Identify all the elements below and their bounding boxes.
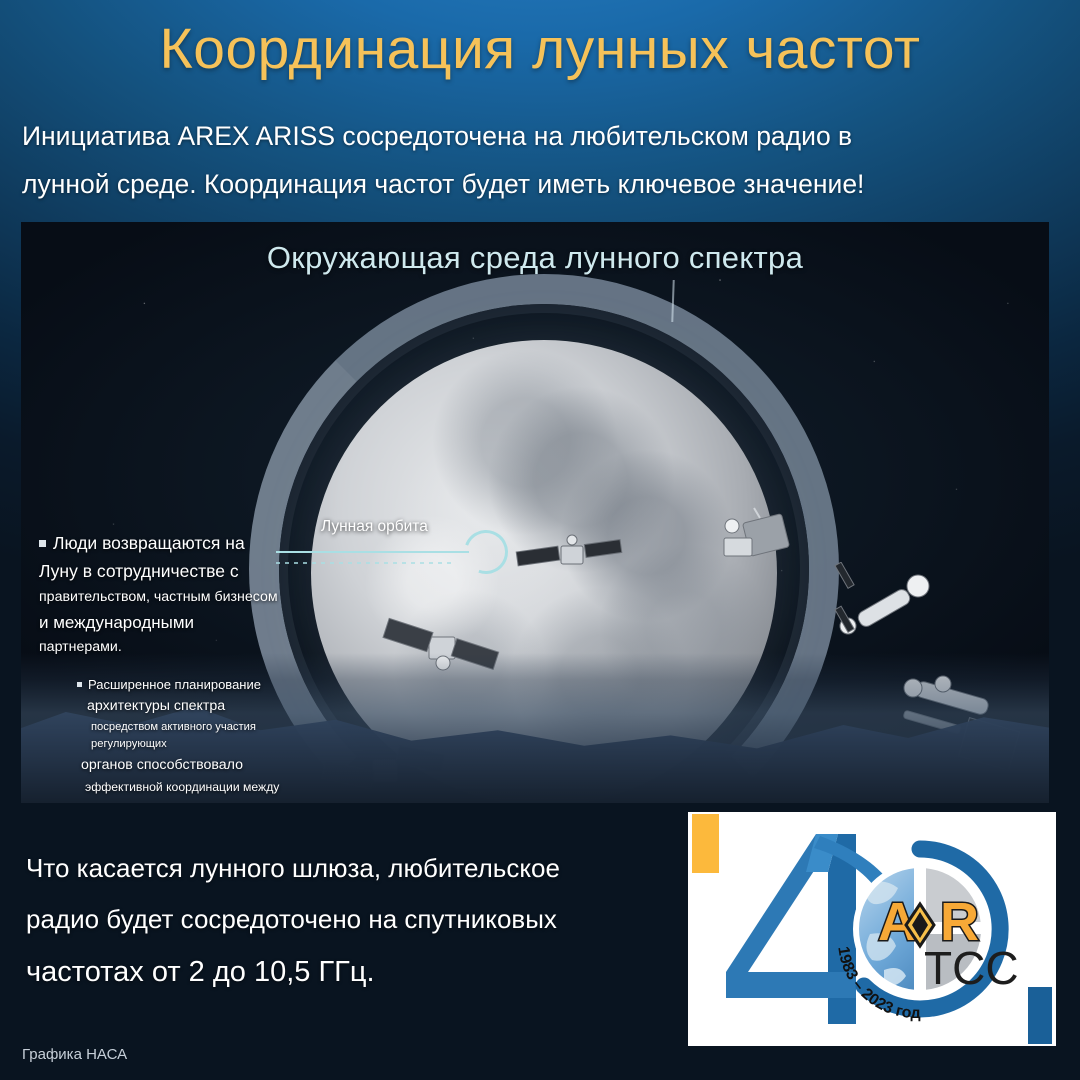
logo-artwork: A R TCC 1983 – 2023 год [688, 812, 1056, 1046]
satellite-icon-top-left [515, 522, 625, 592]
anniversary-logo-card: A R TCC 1983 – 2023 год [688, 812, 1056, 1046]
bullet-group-people-returning: Люди возвращаются на Луну в сотрудничест… [39, 530, 325, 659]
intro-line-1: Инициатива AREX ARISS сосредоточена на л… [22, 112, 1032, 160]
bullet-line: и международными [39, 610, 325, 636]
lunar-gateway-icon-top-right [706, 500, 811, 580]
bullet-line: Расширенное планирование [77, 675, 325, 695]
bottom-line-3: частотах от 2 до 10,5 ГГц. [26, 944, 666, 1001]
bullet-square-icon [39, 540, 46, 547]
bullet-line: партнерами. [39, 637, 325, 658]
page-title: Координация лунных частот [0, 20, 1080, 80]
bottom-line-2: радио будет сосредоточено на спутниковых [26, 894, 666, 945]
bottom-line-1: Что касается лунного шлюза, любительское [26, 843, 666, 894]
callout-lunar-orbit-label: Лунная орбита [321, 518, 428, 536]
intro-line-2: лунной среде. Координация частот будет и… [22, 160, 1032, 208]
bullet-line-text: Люди возвращаются на [53, 533, 245, 553]
graphics-credit: Графика НАСА [22, 1046, 127, 1063]
bullet-line: Луну в сотрудничестве с [39, 558, 325, 584]
bullet-line: посредством активного участия регулирующ… [91, 719, 325, 753]
bullet-line: органов способствовало [81, 755, 325, 776]
graphic-heading: Окружающая среда лунного спектра [21, 240, 1049, 276]
logo-org-name: TCC [924, 942, 1019, 994]
bullet-line: правительством, частным бизнесом [39, 587, 325, 608]
intro-paragraph: Инициатива AREX ARISS сосредоточена на л… [22, 112, 1032, 208]
lunar-spectrum-graphic: Окружающая среда лунного спектра [21, 222, 1049, 803]
bullet-line: архитектуры спектра [87, 696, 325, 717]
bottom-paragraph: Что касается лунного шлюза, любительское… [26, 843, 666, 1001]
space-station-icon-right [826, 562, 956, 657]
poster-root: Координация лунных частот Инициатива ARE… [0, 0, 1080, 1080]
bullet-line: Люди возвращаются на [39, 530, 325, 556]
bullet-line-text: Расширенное планирование [88, 677, 261, 692]
bullet-line: эффективной координации между [85, 778, 325, 796]
bullet-line: правительственными, [85, 799, 325, 803]
graphic-bullet-text: Люди возвращаются на Луну в сотрудничест… [39, 530, 325, 803]
bullet-square-icon [77, 682, 82, 687]
bullet-group-spectrum-architecture: Расширенное планирование архитектуры спе… [77, 675, 325, 803]
